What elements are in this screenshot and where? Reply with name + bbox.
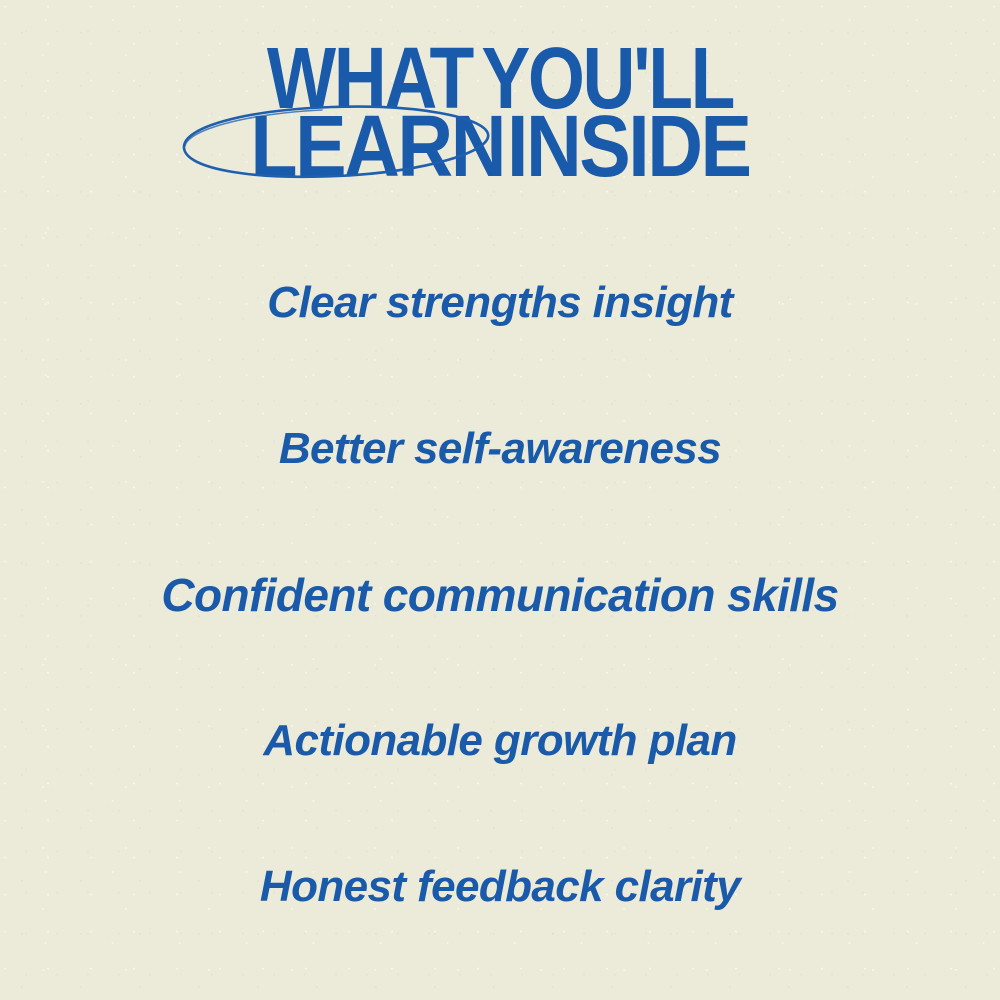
headline-word-inside: INSIDE [507,110,750,183]
benefits-list: Clear strengths insight Better self-awar… [0,230,1000,960]
headline-word-learn: LEARN [250,110,504,183]
page-title: WHATYOU'LL LEARNINSIDE [0,42,1000,175]
benefit-label-3: Confident communication skills [161,571,838,619]
poster-canvas: WHATYOU'LL LEARNINSIDE Clear strengths i… [0,0,1000,1000]
list-item: Actionable growth plan [0,668,1000,814]
benefit-label-1: Clear strengths insight [267,280,732,326]
list-item: Clear strengths insight [0,230,1000,376]
list-item: Better self-awareness [0,376,1000,522]
benefit-label-5: Honest feedback clarity [260,864,740,910]
benefit-label-2: Better self-awareness [279,426,721,472]
benefit-label-4: Actionable growth plan [263,718,736,764]
list-item: Honest feedback clarity [0,814,1000,960]
list-item: Confident communication skills [0,522,1000,668]
headline-line-two: LEARNINSIDE [5,110,995,183]
